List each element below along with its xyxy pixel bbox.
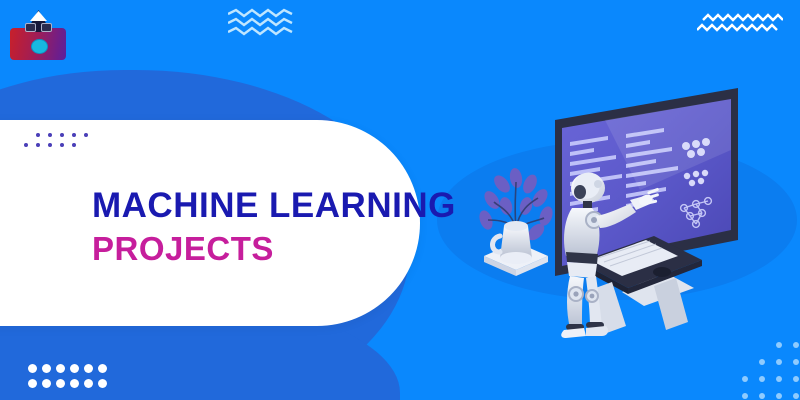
page-subtitle: PROJECTS — [92, 232, 274, 265]
logo-lens-icon — [31, 39, 48, 54]
site-logo[interactable] — [10, 8, 66, 60]
potted-plant — [477, 167, 555, 276]
dot-grid-bottom-left — [28, 364, 112, 394]
dot-grid-bottom-right — [742, 342, 800, 400]
page-title: MACHINE LEARNING — [92, 188, 456, 223]
logo-hat-icon — [30, 11, 47, 21]
zigzag-top-right-icon — [697, 12, 783, 38]
banner-root: MACHINE LEARNING PROJECTS — [0, 0, 800, 400]
dot-grid-card — [24, 133, 96, 153]
robot-at-monitor-illustration — [440, 80, 790, 340]
zigzag-top-left-icon — [228, 8, 294, 40]
logo-glasses-icon — [25, 23, 52, 30]
